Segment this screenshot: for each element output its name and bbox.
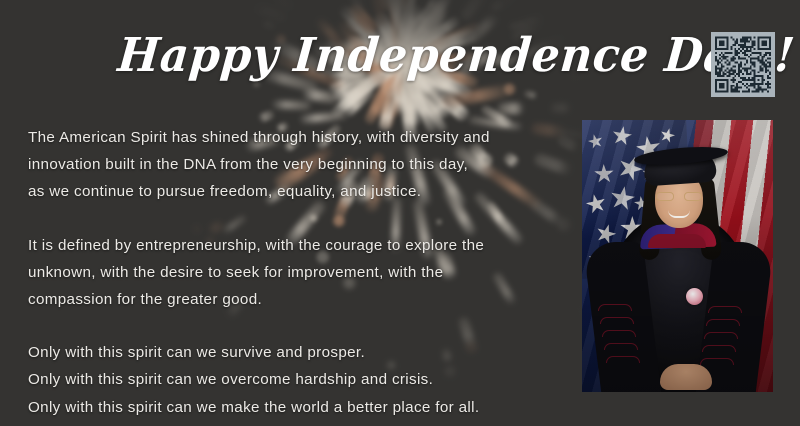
copy-line: It is defined by entrepreneurship, with …: [28, 232, 576, 259]
copy-line: unknown, with the desire to seek for imp…: [28, 259, 576, 286]
qr-code[interactable]: [711, 32, 775, 97]
copy-line: Only with this spirit can we make the wo…: [28, 394, 576, 421]
paragraph-2: It is defined by entrepreneurship, with …: [28, 232, 576, 314]
copy-line: The American Spirit has shined through h…: [28, 124, 576, 151]
copy-line: innovation built in the DNA from the ver…: [28, 151, 576, 178]
body-copy: The American Spirit has shined through h…: [28, 124, 576, 421]
paragraph-3: Only with this spirit can we survive and…: [28, 339, 576, 421]
photo-shading: [582, 120, 773, 392]
independence-day-card: Happy Independence Day ! The American Sp…: [0, 0, 800, 426]
page-title: Happy Independence Day !: [115, 25, 540, 86]
qr-code-glyph: [715, 36, 771, 93]
copy-line: Only with this spirit can we overcome ha…: [28, 366, 576, 393]
copy-line: as we continue to pursue freedom, equali…: [28, 178, 576, 205]
graduation-portrait-photo: [582, 120, 773, 392]
copy-line: Only with this spirit can we survive and…: [28, 339, 576, 366]
paragraph-1: The American Spirit has shined through h…: [28, 124, 576, 206]
copy-line: compassion for the greater good.: [28, 286, 576, 313]
